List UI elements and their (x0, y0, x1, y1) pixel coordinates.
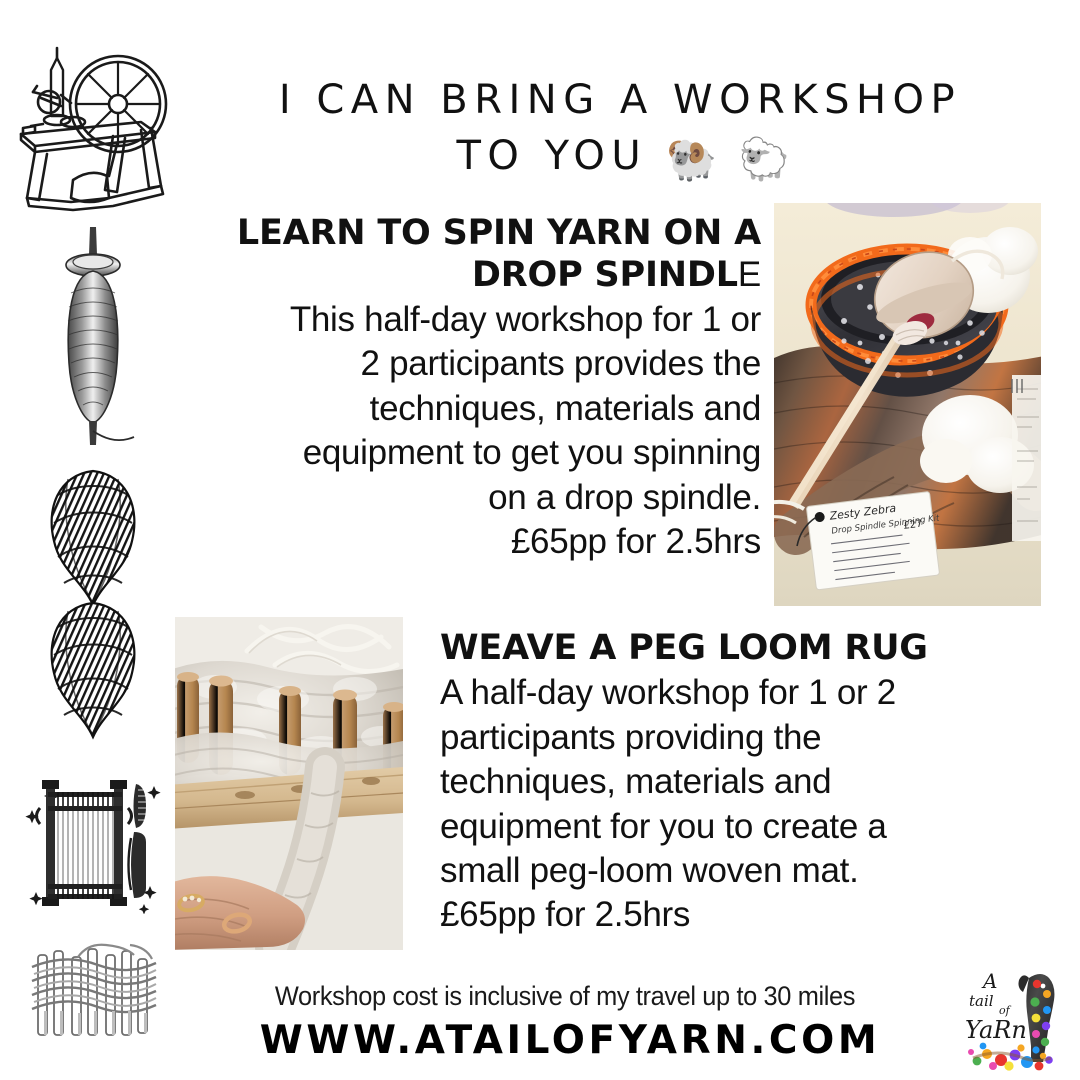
drop-spindle-body-line-2: 2 participants provides the (183, 342, 761, 386)
drop-spindle-icon (0, 222, 185, 452)
svg-text:£27: £27 (903, 519, 923, 532)
peg-loom-weaving-photo (175, 617, 403, 950)
peg-loom-body: A half-day workshop for 1 or 2 participa… (440, 671, 1015, 938)
drop-spindle-body-line-5: on a drop spindle. (183, 476, 761, 520)
poster-headline: I CAN BRING A WORKSHOP TO YOU 🐏 🐑 (200, 72, 1040, 188)
drop-spindle-price: £65pp for 2.5hrs (183, 520, 761, 564)
drop-spindle-body-line-3: techniques, materials and (183, 387, 761, 431)
logo-text-yarn: YaRn (965, 1016, 1027, 1044)
peg-loom-body-line-4: equipment for you to create a (440, 805, 1015, 849)
drop-spindle-title-bold: LEARN TO SPIN YARN ON A DROP SPINDL (237, 213, 761, 295)
sheep-emoji-pair: 🐏 🐑 (666, 135, 793, 183)
spinning-wheel-icon (0, 38, 185, 213)
drop-spindle-section-text: LEARN TO SPIN YARN ON A DROP SPINDLE Thi… (183, 212, 761, 565)
headline-line-2: TO YOU 🐏 🐑 (200, 128, 1040, 188)
workshop-flyer: I CAN BRING A WORKSHOP TO YOU 🐏 🐑 LEARN … (0, 0, 1080, 1080)
drop-spindle-body-line-4: equipment to get you spinning (183, 431, 761, 475)
drop-spindle-body: This half-day workshop for 1 or 2 partic… (183, 298, 761, 565)
peg-loom-body-line-5: small peg-loom woven mat. (440, 849, 1015, 893)
drop-spindle-title-light: E (738, 255, 761, 294)
yarn-skein-icon (0, 462, 185, 747)
logo-text-a: A (981, 969, 997, 993)
website-url[interactable]: WWW.ATAILOFYARN.COM (180, 1018, 960, 1063)
drop-spindle-body-line-1: This half-day workshop for 1 or (183, 298, 761, 342)
peg-loom-body-line-2: participants providing the (440, 716, 1015, 760)
logo-text-tail: tail (969, 992, 994, 1010)
peg-loom-icon (0, 940, 185, 1070)
decorative-icon-rail (0, 0, 185, 1080)
peg-loom-title: WEAVE A PEG LOOM RUG (440, 628, 1015, 669)
peg-loom-price: £65pp for 2.5hrs (440, 893, 1015, 937)
rigid-heddle-loom-icon (0, 765, 185, 915)
peg-loom-body-line-3: techniques, materials and (440, 760, 1015, 804)
travel-note: Workshop cost is inclusive of my travel … (203, 981, 927, 1012)
a-tail-of-yarn-logo[interactable]: A tail of YaRn (957, 962, 1065, 1074)
headline-line-2-text: TO YOU (457, 133, 648, 179)
peg-loom-body-line-1: A half-day workshop for 1 or 2 (440, 671, 1015, 715)
peg-loom-section-text: WEAVE A PEG LOOM RUG A half-day workshop… (440, 628, 1015, 938)
headline-line-1: I CAN BRING A WORKSHOP (200, 72, 1040, 128)
drop-spindle-title: LEARN TO SPIN YARN ON A DROP SPINDLE (183, 212, 761, 296)
drop-spindle-kit-photo: Zesty Zebra Drop Spindle Spinning Kit £2… (774, 203, 1041, 606)
